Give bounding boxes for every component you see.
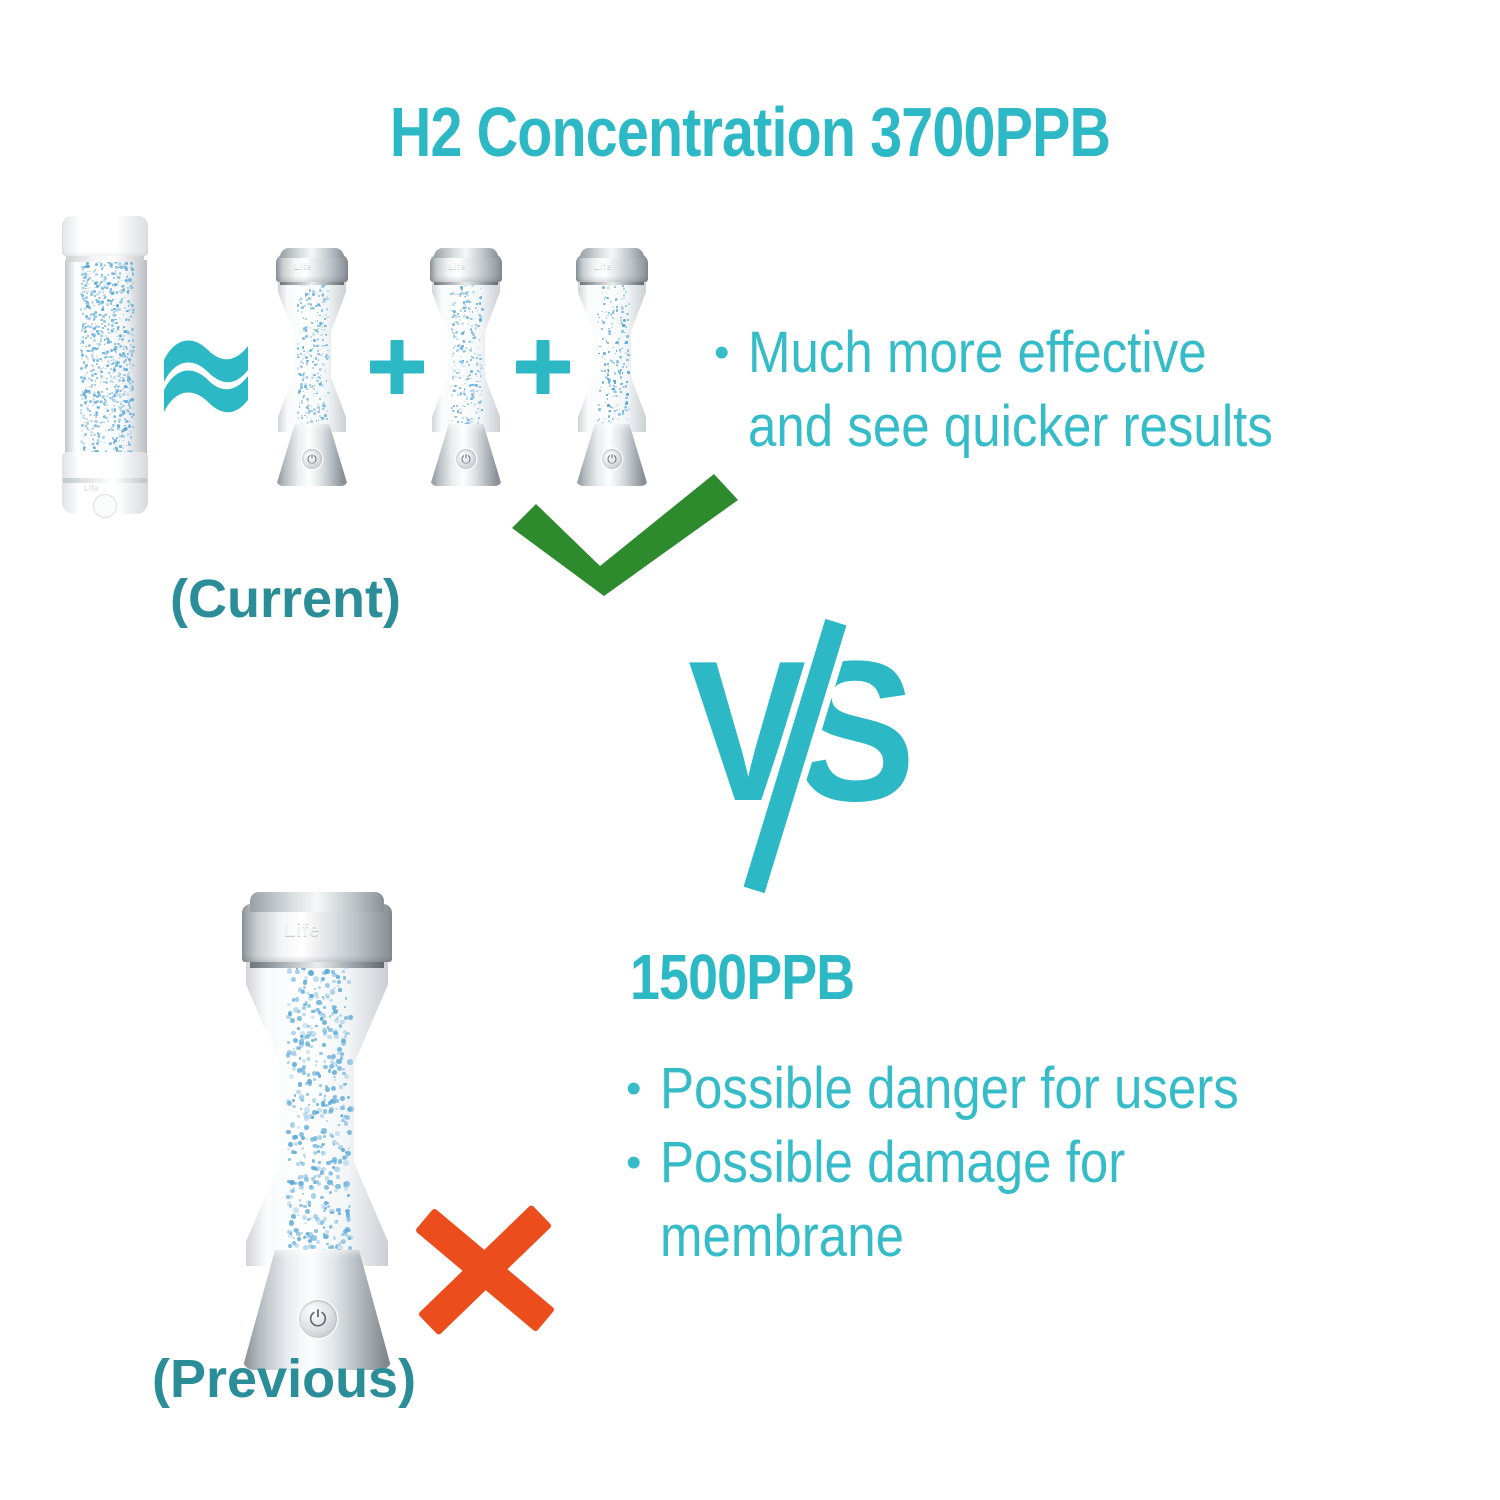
page-title: H2 Concentration 3700PPB bbox=[135, 92, 1365, 172]
small-bottle-3-brand-text: Life bbox=[594, 261, 612, 271]
previous-bottle-power-button[interactable]: ⏻ bbox=[299, 1300, 337, 1338]
hero-bottle-ring bbox=[63, 478, 147, 483]
current-bullet-1: Much more effective and see quicker resu… bbox=[748, 316, 1273, 464]
small-bottle-2-power-button[interactable]: ⏻ bbox=[456, 449, 476, 469]
bullet-dot-icon: • bbox=[626, 1126, 660, 1200]
previous-bottle-bubbles bbox=[246, 960, 388, 1266]
previous-bullet-list: • Possible danger for users • Possible d… bbox=[626, 1052, 1466, 1274]
small-bottle-3-cap-top bbox=[580, 248, 644, 258]
small-bottle-2-glass bbox=[432, 280, 500, 432]
small-bottle-2: ⏻ Life bbox=[420, 246, 512, 474]
red-cross-icon bbox=[390, 1185, 580, 1355]
small-bottle-1-power-button[interactable]: ⏻ bbox=[302, 449, 322, 469]
current-bullet-list: • Much more effective and see quicker re… bbox=[714, 316, 1474, 464]
hero-bottle-cap bbox=[62, 216, 148, 256]
hero-bottle-power-button[interactable] bbox=[93, 494, 117, 518]
previous-bottle-cap-top bbox=[250, 892, 384, 912]
previous-label: (Previous) bbox=[152, 1348, 416, 1410]
current-label: (Current) bbox=[170, 568, 401, 630]
hero-bottle-glass bbox=[65, 260, 147, 456]
hero-bottle-brand-text: Life bbox=[84, 484, 99, 493]
plus-icon-2 bbox=[516, 340, 570, 394]
small-bottle-1: ⏻ Life bbox=[266, 246, 358, 474]
small-bottle-3: ⏻ Life bbox=[566, 246, 658, 474]
current-hero-bottle: Life bbox=[56, 216, 154, 516]
previous-bottle: ⏻ Life bbox=[222, 888, 412, 1328]
small-bottle-1-brand-text: Life bbox=[294, 261, 312, 271]
small-bottle-1-bubbles bbox=[278, 280, 346, 432]
bullet-dot-icon: • bbox=[714, 316, 748, 390]
previous-bullet-2: Possible damage for membrane bbox=[660, 1126, 1125, 1274]
list-item: • Possible danger for users bbox=[626, 1052, 1466, 1126]
small-bottle-2-bubbles bbox=[432, 280, 500, 432]
list-item: • Possible damage for membrane bbox=[626, 1126, 1466, 1274]
small-bottle-1-glass bbox=[278, 280, 346, 432]
small-bottle-1-cap-top bbox=[280, 248, 344, 258]
small-bottle-2-cap-top bbox=[434, 248, 498, 258]
small-bottle-3-glass bbox=[578, 280, 646, 432]
infographic-canvas: H2 Concentration 3700PPB Life (Current) … bbox=[0, 0, 1500, 1500]
previous-ppb-heading: 1500PPB bbox=[630, 940, 854, 1014]
small-bottle-3-bubbles bbox=[578, 280, 646, 432]
approximately-equal-icon bbox=[160, 330, 256, 420]
hero-bottle-bubbles bbox=[66, 260, 146, 456]
plus-icon-1 bbox=[370, 340, 424, 394]
previous-bullet-1: Possible danger for users bbox=[660, 1052, 1239, 1126]
small-bottle-2-brand-text: Life bbox=[448, 261, 466, 271]
small-bottle-3-power-button[interactable]: ⏻ bbox=[602, 449, 622, 469]
previous-bottle-brand-text: Life bbox=[284, 920, 320, 942]
versus-badge: VS bbox=[688, 632, 908, 912]
green-check-icon bbox=[500, 470, 750, 600]
previous-bottle-glass bbox=[246, 960, 388, 1266]
bullet-dot-icon: • bbox=[626, 1052, 660, 1126]
list-item: • Much more effective and see quicker re… bbox=[714, 316, 1474, 464]
